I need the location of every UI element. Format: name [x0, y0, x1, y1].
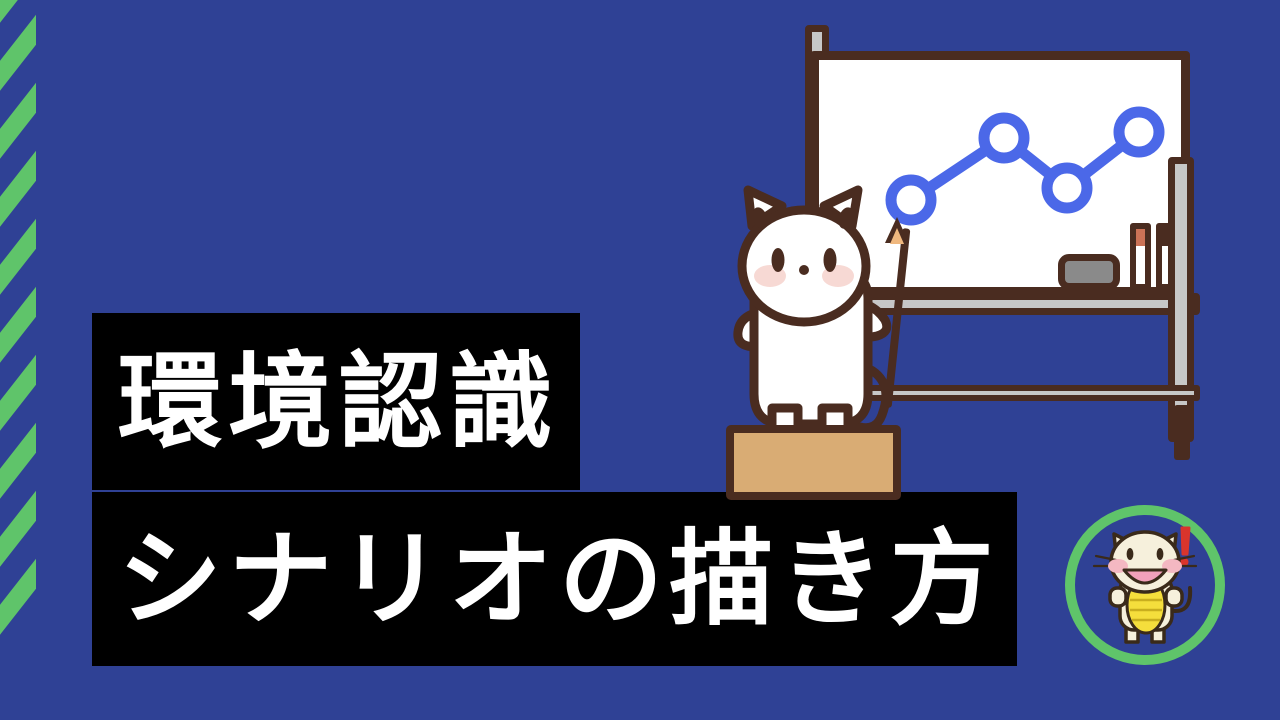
- cat-eye-right: [824, 248, 837, 272]
- chart-marker: [1047, 168, 1087, 208]
- cat-pedestal-box: [726, 425, 901, 500]
- title-line-1: 環境認識: [118, 350, 559, 454]
- title-box-secondary: シナリオの描き方: [92, 492, 1017, 666]
- mascot-eye-left: [1127, 548, 1134, 560]
- whiteboard-illustration: [700, 35, 1240, 495]
- chart-marker: [984, 118, 1024, 158]
- marker-pen-red-icon: [1130, 223, 1151, 290]
- title-box-primary: 環境認識: [92, 313, 580, 490]
- cat-presenter: [710, 160, 920, 500]
- thumbnail-canvas: 環境認識 シナリオの描き方: [0, 0, 1280, 720]
- mascot-logo: [1060, 500, 1230, 670]
- mascot-arm-left: [1110, 588, 1126, 606]
- title-line-2: シナリオの描き方: [118, 527, 1000, 631]
- mascot-cat-art: [1060, 500, 1230, 670]
- eraser-icon: [1058, 254, 1120, 290]
- mascot-eye-right: [1157, 548, 1164, 560]
- mascot-arm-right: [1166, 588, 1182, 606]
- cat-eye-left: [772, 248, 785, 272]
- diagonal-stripe-band: [0, 0, 36, 720]
- easel-foot-right: [1174, 405, 1190, 460]
- exclamation-bar: [1182, 528, 1189, 554]
- marker-tip: [1136, 229, 1145, 246]
- cat-nose: [799, 265, 809, 275]
- chart-marker: [1119, 112, 1159, 152]
